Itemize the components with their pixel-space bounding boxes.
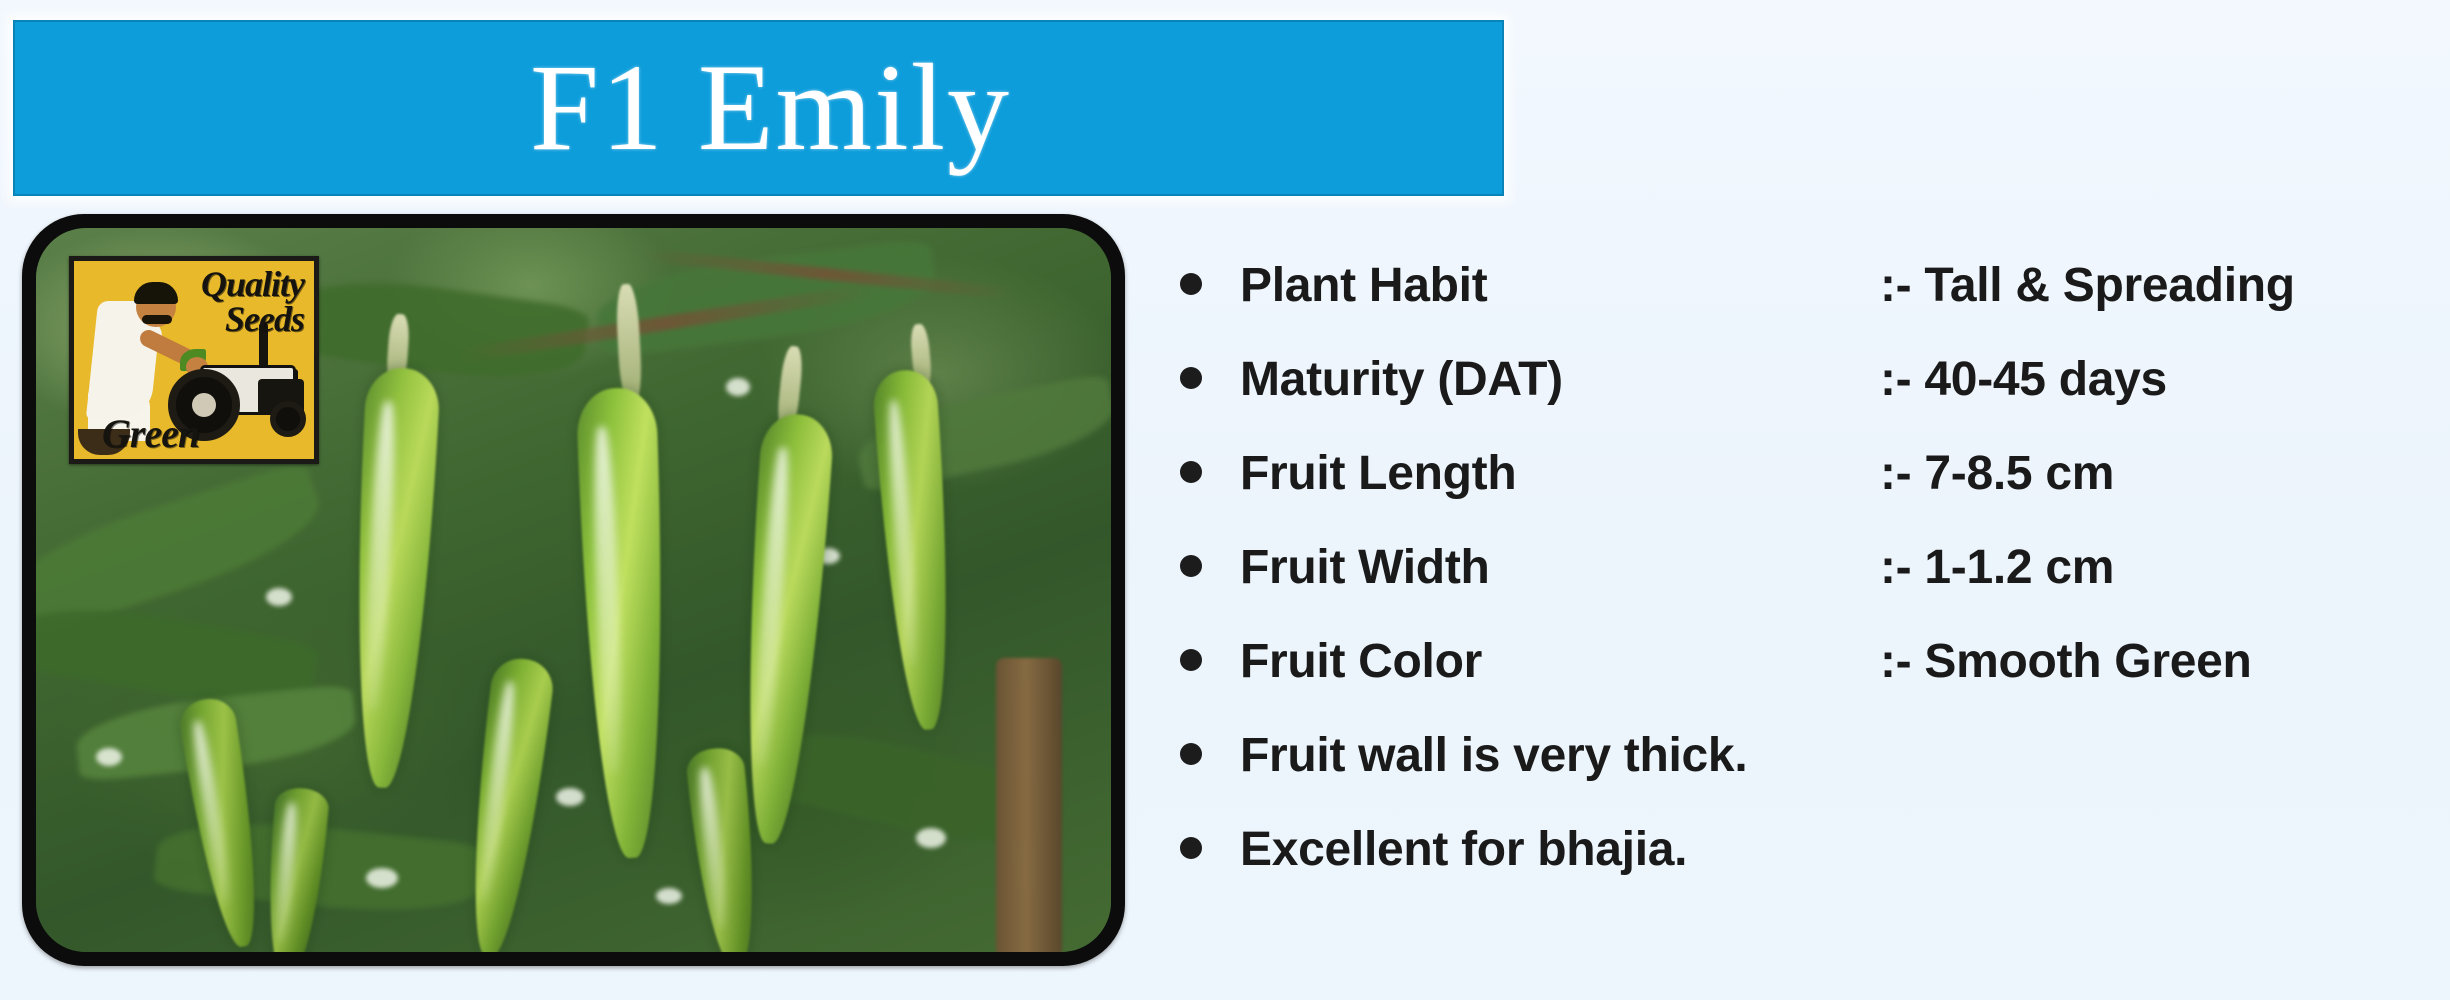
bullet-icon — [1180, 743, 1202, 765]
chili-highlight — [592, 426, 625, 774]
bullet-icon — [1180, 649, 1202, 671]
chili-highlight — [751, 447, 792, 766]
specification-list: Plant Habit :- Tall & Spreading Maturity… — [1180, 258, 2430, 916]
spec-label: Fruit Length — [1240, 446, 1880, 501]
light-speck — [726, 378, 750, 396]
spec-label: Fruit wall is very thick. — [1240, 728, 1747, 783]
spec-value: :- Tall & Spreading — [1880, 258, 2295, 313]
bullet-icon — [1180, 367, 1202, 389]
spec-label: Fruit Color — [1240, 634, 1880, 689]
farmer-hair-shape — [134, 282, 178, 304]
light-speck — [96, 748, 122, 766]
spec-value: :- Smooth Green — [1880, 634, 2252, 689]
light-speck — [656, 888, 682, 904]
spec-row: Excellent for bhajia. — [1180, 822, 2430, 916]
logo-line-green: Green — [102, 410, 199, 457]
bullet-icon — [1180, 461, 1202, 483]
spec-row: Fruit Length :- 7-8.5 cm — [1180, 446, 2430, 540]
spec-row: Fruit Color :- Smooth Green — [1180, 634, 2430, 728]
spec-value: :- 7-8.5 cm — [1880, 446, 2114, 501]
light-speck — [916, 828, 946, 848]
bullet-icon — [1180, 837, 1202, 859]
light-speck — [366, 868, 398, 888]
spec-label: Maturity (DAT) — [1240, 352, 1880, 407]
bullet-icon — [1180, 555, 1202, 577]
bullet-icon — [1180, 273, 1202, 295]
title-banner-inner: F1 Emily — [13, 46, 1504, 170]
spec-value: :- 40-45 days — [1880, 352, 2167, 407]
light-speck — [266, 588, 292, 606]
farmer-mustache-shape — [142, 315, 172, 324]
chili-highlight — [362, 401, 397, 712]
product-photo-frame: Quality Seeds Green — [22, 214, 1125, 966]
spec-value: :- 1-1.2 cm — [1880, 540, 2114, 595]
title-banner: F1 Emily — [13, 20, 1504, 196]
light-speck — [556, 788, 584, 806]
wood-post-shape — [996, 658, 1062, 952]
spec-label: Plant Habit — [1240, 258, 1880, 313]
logo-line-quality: Quality — [201, 267, 304, 302]
spec-label: Excellent for bhajia. — [1240, 822, 1687, 877]
spec-row: Fruit wall is very thick. — [1180, 728, 2430, 822]
spec-row: Plant Habit :- Tall & Spreading — [1180, 258, 2430, 352]
page-title: F1 Emily — [530, 46, 1011, 170]
product-photo: Quality Seeds Green — [36, 228, 1111, 952]
spec-row: Fruit Width :- 1-1.2 cm — [1180, 540, 2430, 634]
spec-label: Fruit Width — [1240, 540, 1880, 595]
logo-line-seeds: Seeds — [201, 302, 304, 337]
spec-row: Maturity (DAT) :- 40-45 days — [1180, 352, 2430, 446]
logo-text-top: Quality Seeds — [201, 267, 304, 338]
tractor-front-wheel-shape — [270, 401, 306, 437]
product-info-card: F1 Emily — [0, 0, 2450, 1000]
chili-highlight — [272, 802, 298, 943]
quality-seeds-green-logo: Quality Seeds Green — [69, 256, 319, 464]
